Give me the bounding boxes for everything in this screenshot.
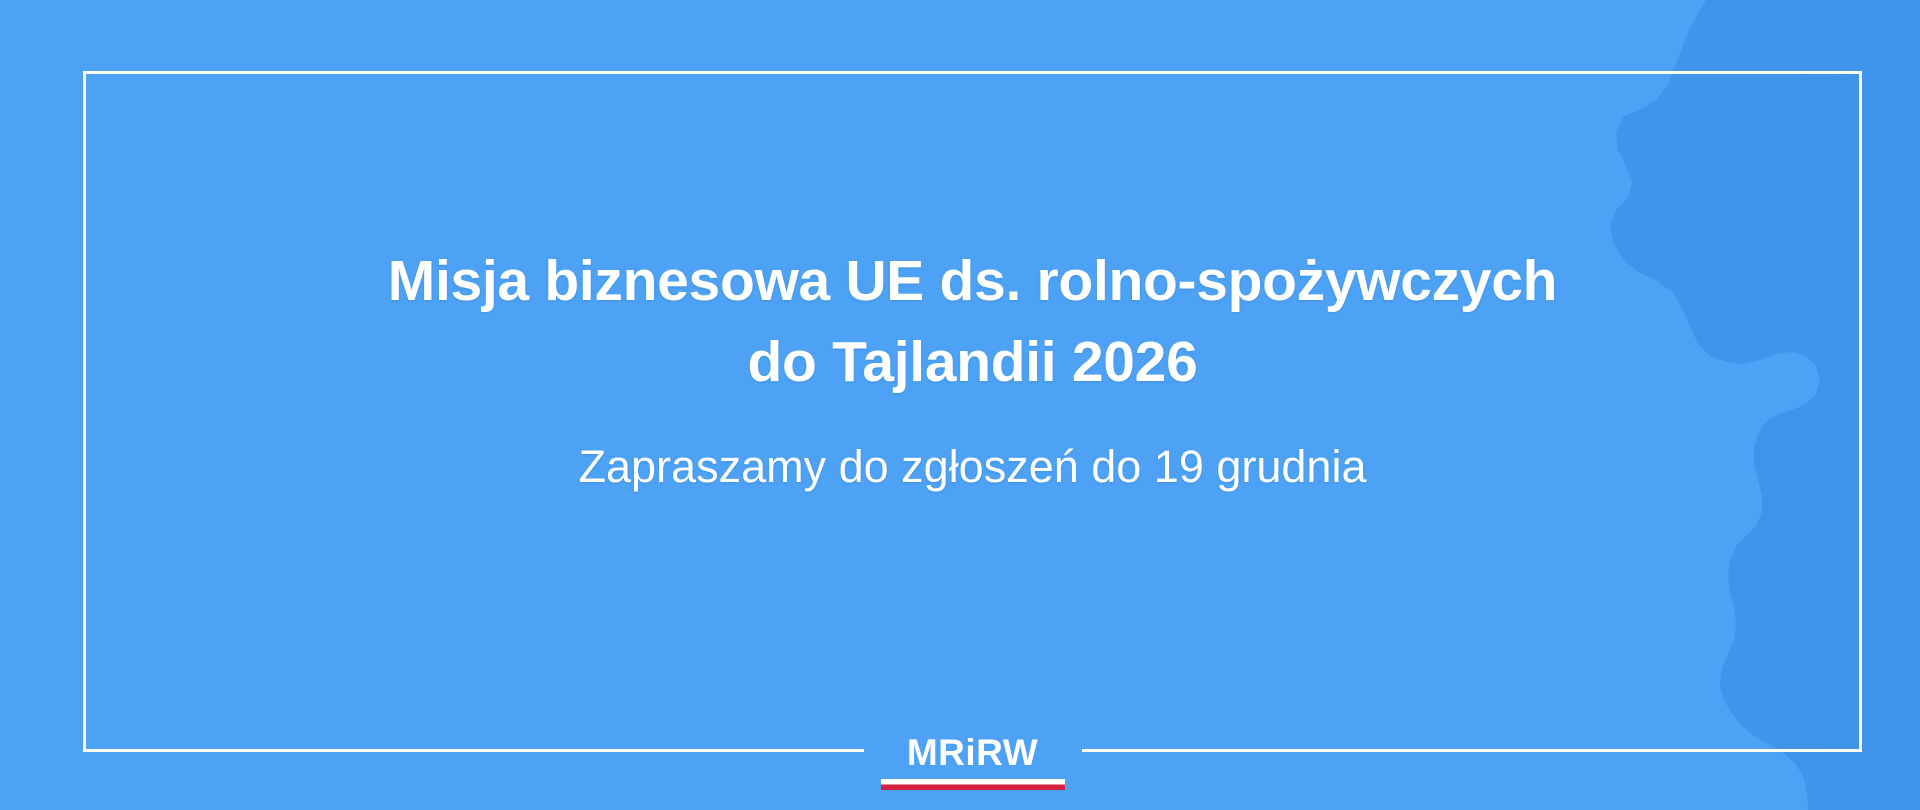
mrirw-logo: MRiRW <box>873 734 1073 790</box>
page-title-line-2: do Tajlandii 2026 <box>223 322 1723 403</box>
logo-text: MRiRW <box>873 734 1073 779</box>
page-title-line-1: Misja biznesowa UE ds. rolno-spożywczych <box>223 241 1723 322</box>
banner-content: Misja biznesowa UE ds. rolno-spożywczych… <box>83 71 1862 752</box>
page-title: Misja biznesowa UE ds. rolno-spożywczych… <box>223 241 1723 403</box>
banner: Misja biznesowa UE ds. rolno-spożywczych… <box>0 0 1920 810</box>
page-subtitle: Zapraszamy do zgłoszeń do 19 grudnia <box>223 439 1723 495</box>
polish-flag-bar-icon <box>881 779 1065 790</box>
